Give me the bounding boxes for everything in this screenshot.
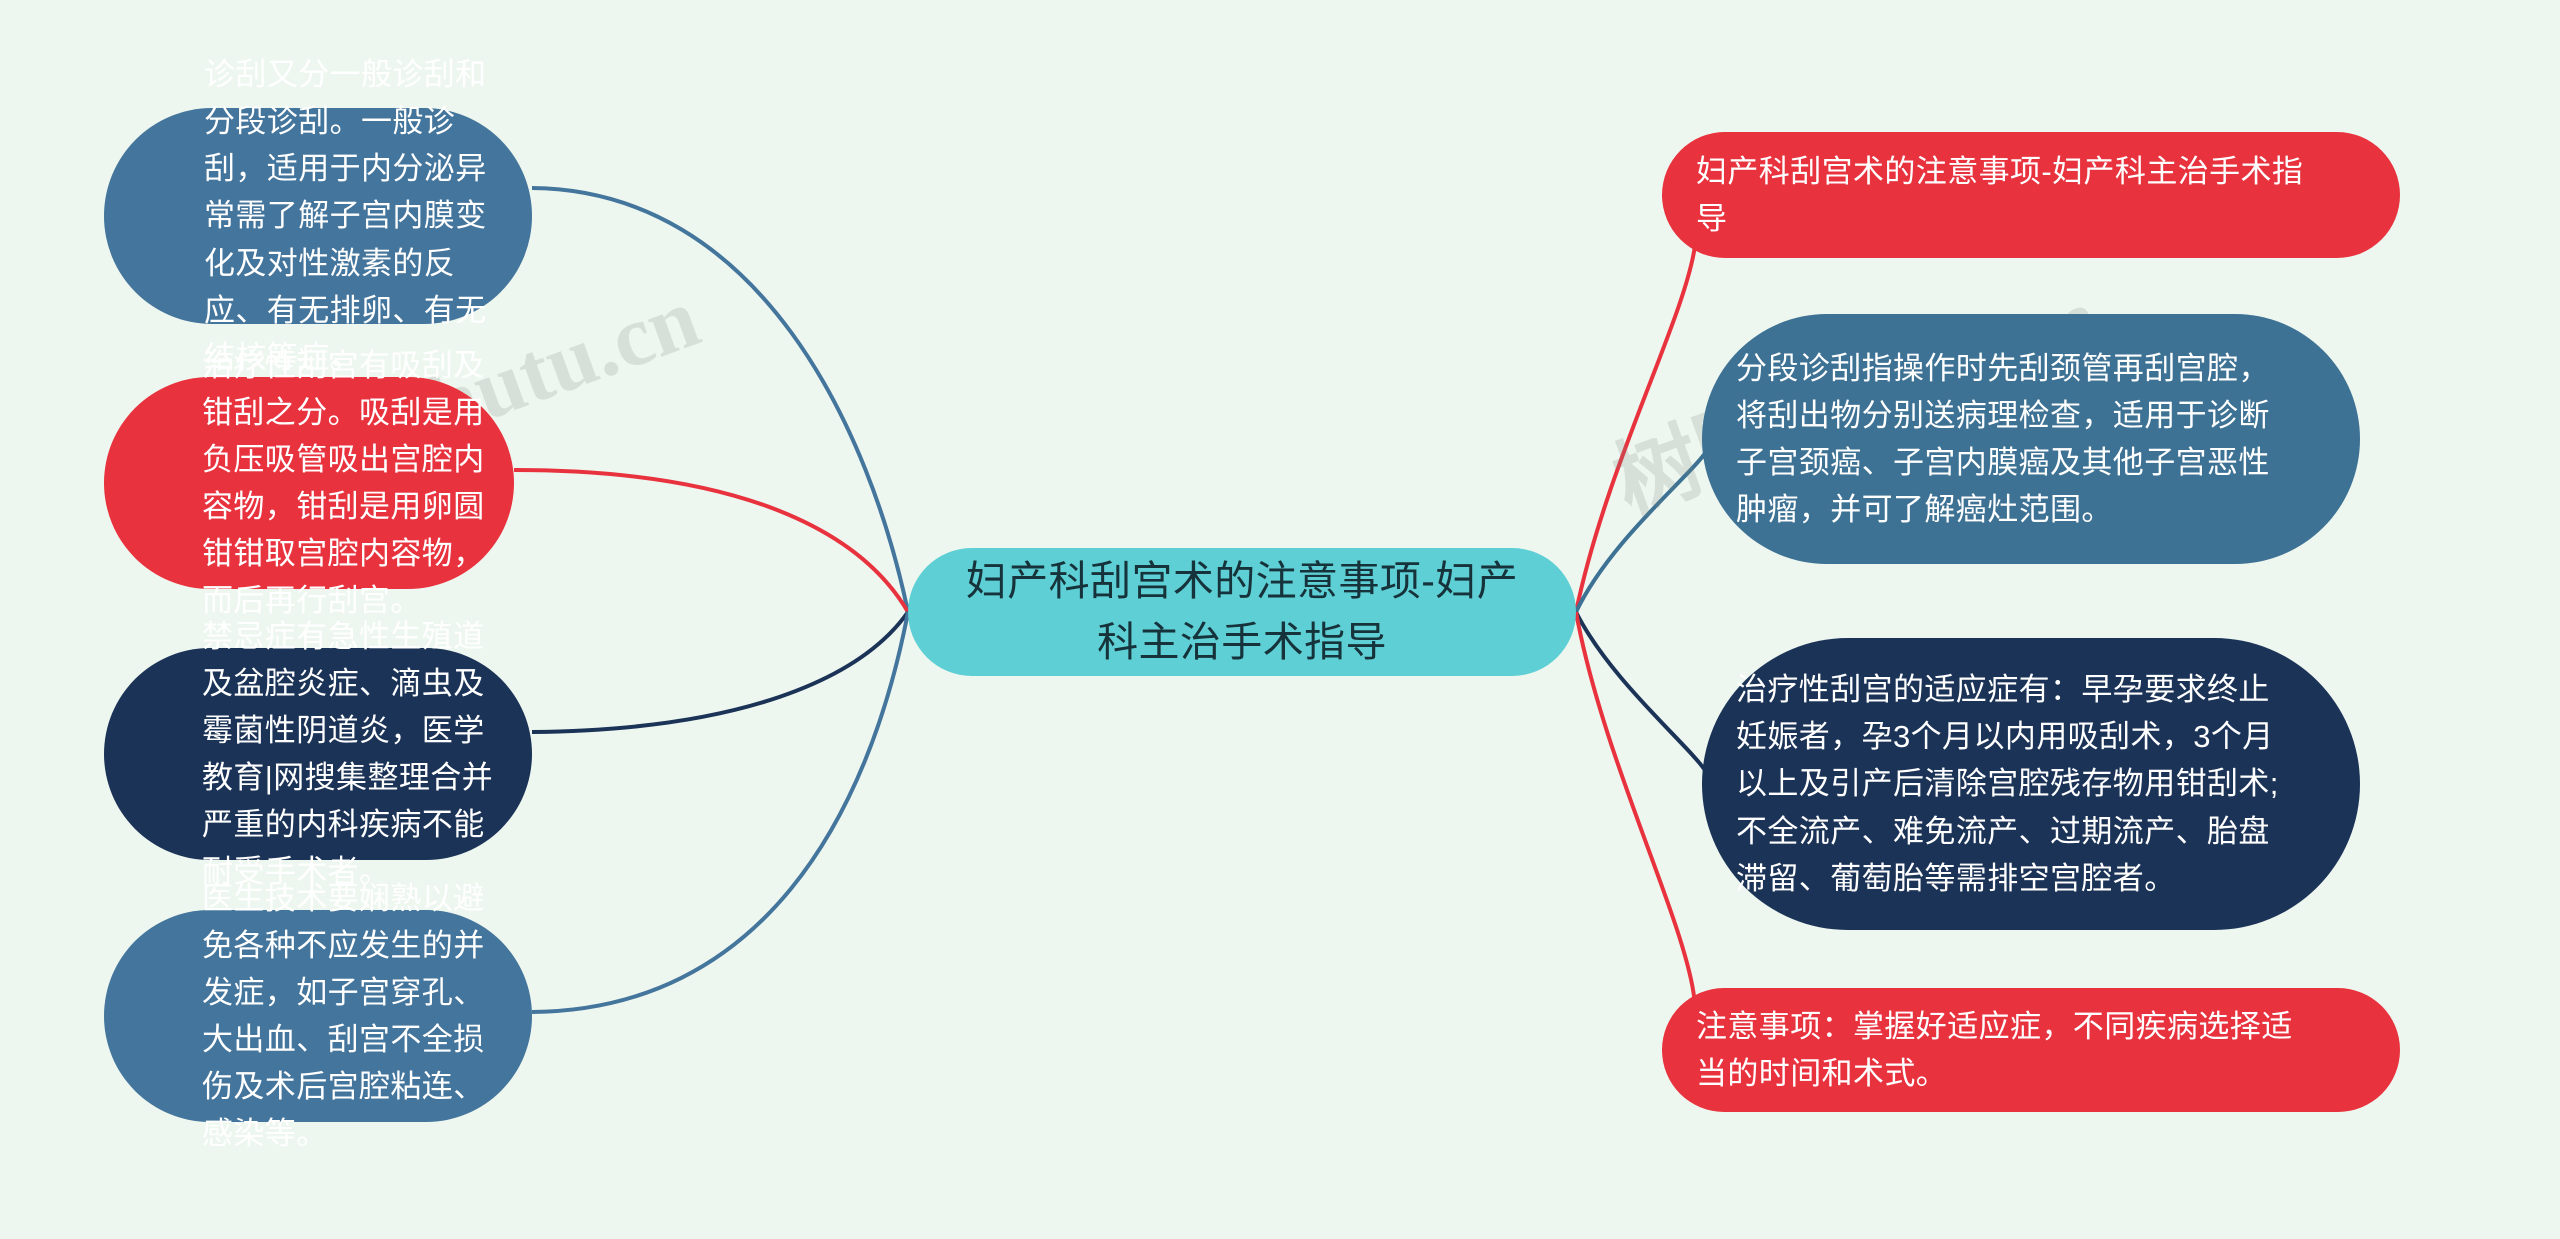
mindmap-left-label-2: 治疗性刮宫有吸刮及钳刮之分。吸刮是用负压吸管吸出宫腔内容物，钳刮是用卵圆钳钳取宫… [202,342,488,625]
mindmap-right-node-1[interactable]: 妇产科刮宫术的注意事项-妇产科主治手术指导 [1662,132,2400,258]
connector-right-1 [1576,196,1696,612]
mindmap-canvas: 树图 shutu.cn 树图 shutu.cn 妇产科刮宫术的注意事项-妇产科主… [0,0,2560,1239]
connector-left-3 [532,612,908,732]
connector-left-1 [532,188,908,612]
mindmap-right-label-2: 分段诊刮指操作时先刮颈管再刮宫腔，将刮出物分别送病理检查，适用于诊断子宫颈癌、子… [1736,345,2290,533]
mindmap-left-node-3[interactable]: 禁忌症有急性生殖道及盆腔炎症、滴虫及霉菌性阴道炎，医学教育|网搜集整理合并严重的… [104,648,532,860]
mindmap-root-node[interactable]: 妇产科刮宫术的注意事项-妇产科主治手术指导 [908,548,1576,676]
mindmap-left-label-1: 诊刮又分一般诊刮和分段诊刮。一般诊刮，适用于内分泌异常需了解子宫内膜变化及对性激… [204,51,502,381]
connector-left-4 [532,612,908,1012]
mindmap-right-node-2[interactable]: 分段诊刮指操作时先刮颈管再刮宫腔，将刮出物分别送病理检查，适用于诊断子宫颈癌、子… [1702,314,2360,564]
mindmap-right-label-4: 注意事项：掌握好适应症，不同疾病选择适当的时间和术式。 [1696,1003,2310,1097]
mindmap-left-label-4: 医生技术要娴熟以避免各种不应发生的并发症，如子宫穿孔、大出血、刮宫不全损伤及术后… [202,875,506,1158]
connector-right-3 [1576,612,1709,784]
connector-right-4 [1576,612,1695,1050]
mindmap-root-label: 妇产科刮宫术的注意事项-妇产科主治手术指导 [948,551,1536,672]
mindmap-left-node-1[interactable]: 诊刮又分一般诊刮和分段诊刮。一般诊刮，适用于内分泌异常需了解子宫内膜变化及对性激… [104,108,532,324]
mindmap-left-node-2[interactable]: 治疗性刮宫有吸刮及钳刮之分。吸刮是用负压吸管吸出宫腔内容物，钳刮是用卵圆钳钳取宫… [104,377,514,589]
mindmap-right-node-4[interactable]: 注意事项：掌握好适应症，不同疾病选择适当的时间和术式。 [1662,988,2400,1112]
mindmap-left-label-3: 禁忌症有急性生殖道及盆腔炎症、滴虫及霉菌性阴道炎，医学教育|网搜集整理合并严重的… [202,613,506,896]
connector-right-2 [1576,440,1709,612]
connector-left-2 [514,470,908,612]
mindmap-left-node-4[interactable]: 医生技术要娴熟以避免各种不应发生的并发症，如子宫穿孔、大出血、刮宫不全损伤及术后… [104,910,532,1122]
mindmap-right-node-3[interactable]: 治疗性刮宫的适应症有：早孕要求终止妊娠者，孕3个月以内用吸刮术，3个月以上及引产… [1702,638,2360,930]
mindmap-right-label-1: 妇产科刮宫术的注意事项-妇产科主治手术指导 [1696,148,2310,242]
mindmap-right-label-3: 治疗性刮宫的适应症有：早孕要求终止妊娠者，孕3个月以内用吸刮术，3个月以上及引产… [1736,666,2290,902]
